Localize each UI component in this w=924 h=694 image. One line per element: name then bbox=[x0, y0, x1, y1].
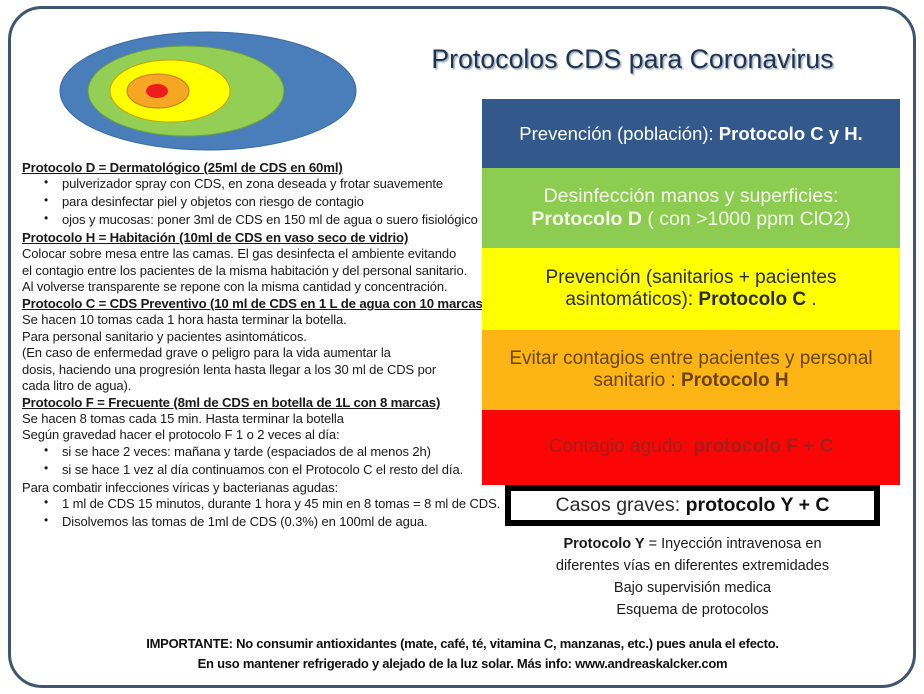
protocol-c-line-5: cada litro de agua). bbox=[22, 379, 484, 392]
band-suffix: ( con >1000 ppm ClO2) bbox=[642, 208, 851, 230]
list-item: si se hace 1 vez al día continuamos con … bbox=[62, 463, 484, 476]
protocol-h-line-2: el contagio entre los pacientes de la mi… bbox=[22, 264, 484, 277]
band-evitar-contagios: Evitar contagios entre pacientes y perso… bbox=[482, 330, 900, 410]
footer-line-2: En uso mantener refrigerado y alejado de… bbox=[40, 654, 885, 674]
protocol-c-line-2: Para personal sanitario y pacientes asin… bbox=[22, 330, 484, 343]
gravebox-prefix: Casos graves: bbox=[556, 494, 686, 516]
list-item: ojos y mucosas: poner 3ml de CDS en 150 … bbox=[62, 213, 484, 226]
footer-line-1: IMPORTANTE: No consumir antioxidantes (m… bbox=[40, 634, 885, 654]
protocol-d-heading: Protocolo D = Dermatológico (25ml de CDS… bbox=[22, 161, 484, 174]
band-bold: Protocolo C bbox=[698, 289, 806, 310]
protocol-f-closing-line: Para combatir infecciones víricas y bact… bbox=[22, 481, 484, 494]
protocol-h-line-3: Al volverse transparente se repone con l… bbox=[22, 280, 484, 293]
casos-graves-callout-box: Casos graves: protocolo Y + C bbox=[505, 485, 880, 526]
list-item: pulverizador spray con CDS, en zona dese… bbox=[62, 177, 484, 190]
band-desinfeccion-manos-superficies: Desinfección manos y superficies: Protoc… bbox=[482, 168, 900, 248]
band-prefix: Prevención (población): bbox=[519, 123, 719, 144]
gravebox-bold: protocolo Y + C bbox=[686, 494, 830, 516]
list-item: si se hace 2 veces: mañana y tarde (espa… bbox=[62, 445, 484, 458]
band-bold: protocolo F + C bbox=[693, 436, 833, 457]
poster-root: Protocolos CDS para Coronavirus Protocol… bbox=[0, 0, 924, 694]
protocol-y-line-3: Bajo supervisión medica bbox=[480, 577, 905, 599]
band-bold: Protocolo D bbox=[531, 208, 642, 230]
list-item: 1 ml de CDS 15 minutos, durante 1 hora y… bbox=[62, 497, 484, 510]
band-bold: Protocolo C y H. bbox=[719, 123, 863, 144]
band-bold: Protocolo H bbox=[681, 370, 789, 391]
protocol-f-line-1: Se hacen 8 tomas cada 15 min. Hasta term… bbox=[22, 412, 484, 425]
band-contagio-agudo: Contagio agudo: protocolo F + C bbox=[482, 410, 900, 485]
list-item: para desinfectar piel y objetos con ries… bbox=[62, 195, 484, 208]
protocol-f-heading: Protocolo F = Frecuente (8ml de CDS en b… bbox=[22, 396, 484, 409]
page-title: Protocolos CDS para Coronavirus bbox=[360, 44, 905, 75]
band-suffix: . bbox=[806, 289, 817, 310]
protocol-y-line-1: Protocolo Y = Inyección intravenosa en bbox=[480, 533, 905, 555]
protocol-c-line-1: Se hacen 10 tomas cada 1 hora hasta term… bbox=[22, 313, 484, 326]
protocol-h-line-1: Colocar sobre mesa entre las camas. El g… bbox=[22, 247, 484, 260]
protocol-y-label: Protocolo Y bbox=[563, 536, 644, 552]
footer-note: IMPORTANTE: No consumir antioxidantes (m… bbox=[40, 634, 885, 674]
band-prefix: Contagio agudo: bbox=[549, 436, 694, 457]
protocol-y-line-4: Esquema de protocolos bbox=[480, 599, 905, 621]
severity-band-stack: Prevención (población): Protocolo C y H.… bbox=[482, 99, 900, 485]
band-prevencion-poblacion: Prevención (población): Protocolo C y H. bbox=[482, 99, 900, 168]
protocol-y-block: Protocolo Y = Inyección intravenosa en d… bbox=[480, 533, 905, 621]
protocol-f-bullets: si se hace 2 veces: mañana y tarde (espa… bbox=[22, 445, 484, 476]
protocol-h-heading: Protocolo H = Habitación (10ml de CDS en… bbox=[22, 231, 484, 244]
list-item: Disolvemos las tomas de 1ml de CDS (0.3%… bbox=[62, 515, 484, 528]
band-prefix: Desinfección manos y superficies: bbox=[544, 185, 839, 207]
protocol-y-line-1-rest: = Inyección intravenosa en bbox=[645, 536, 822, 552]
protocol-c-line-3: (En caso de enfermedad grave o peligro p… bbox=[22, 346, 484, 359]
protocol-c-heading: Protocolo C = CDS Preventivo (10 ml de C… bbox=[22, 297, 484, 310]
protocol-y-line-2: diferentes vías en diferentes extremidad… bbox=[480, 555, 905, 577]
protocol-f-closing-bullets: 1 ml de CDS 15 minutos, durante 1 hora y… bbox=[22, 497, 484, 528]
concentric-target-ellipses-icon bbox=[58, 30, 358, 152]
left-text-column: Protocolo D = Dermatológico (25ml de CDS… bbox=[22, 158, 484, 533]
protocol-f-line-2: Según gravedad hacer el protocolo F 1 o … bbox=[22, 428, 484, 441]
protocol-c-line-4: dosis, haciendo una progresión lenta has… bbox=[22, 363, 484, 376]
band-prevencion-sanitarios: Prevención (sanitarios + pacientes asint… bbox=[482, 248, 900, 330]
protocol-d-bullets: pulverizador spray con CDS, en zona dese… bbox=[22, 177, 484, 226]
